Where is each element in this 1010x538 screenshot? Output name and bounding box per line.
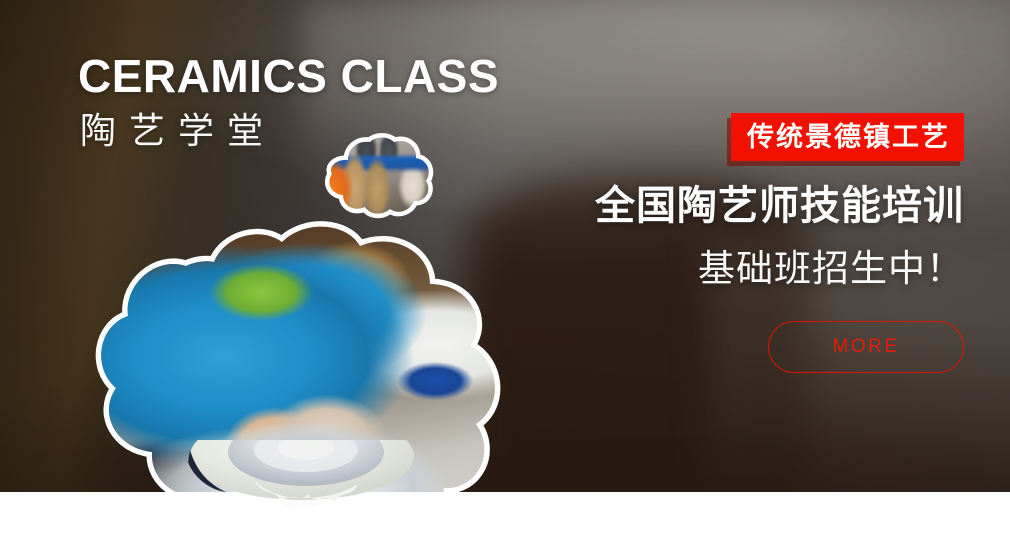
more-button[interactable]: MORE <box>768 321 964 373</box>
page-title-english: CERAMICS CLASS <box>78 50 499 102</box>
promo-headline: 全国陶艺师技能培训 <box>544 183 964 229</box>
cta-row: MORE <box>544 321 964 373</box>
page-title-chinese: 陶艺学堂 <box>80 110 499 152</box>
title-block: CERAMICS CLASS 陶艺学堂 <box>78 50 499 152</box>
main-cloud-photo <box>64 222 534 492</box>
badge-row: 传统景德镇工艺 <box>544 113 964 161</box>
hero-banner: CERAMICS CLASS 陶艺学堂 传统景德镇工艺 全国陶艺师技能培训 基础… <box>0 0 1010 492</box>
bottom-white-strip <box>0 492 1010 538</box>
status-badge: 传统景德镇工艺 <box>731 113 964 161</box>
promo-block: 传统景德镇工艺 全国陶艺师技能培训 基础班招生中！ MORE <box>544 113 964 373</box>
banner-stage: CERAMICS CLASS 陶艺学堂 传统景德镇工艺 全国陶艺师技能培训 基础… <box>0 0 1010 538</box>
promo-subheadline: 基础班招生中！ <box>544 247 964 291</box>
